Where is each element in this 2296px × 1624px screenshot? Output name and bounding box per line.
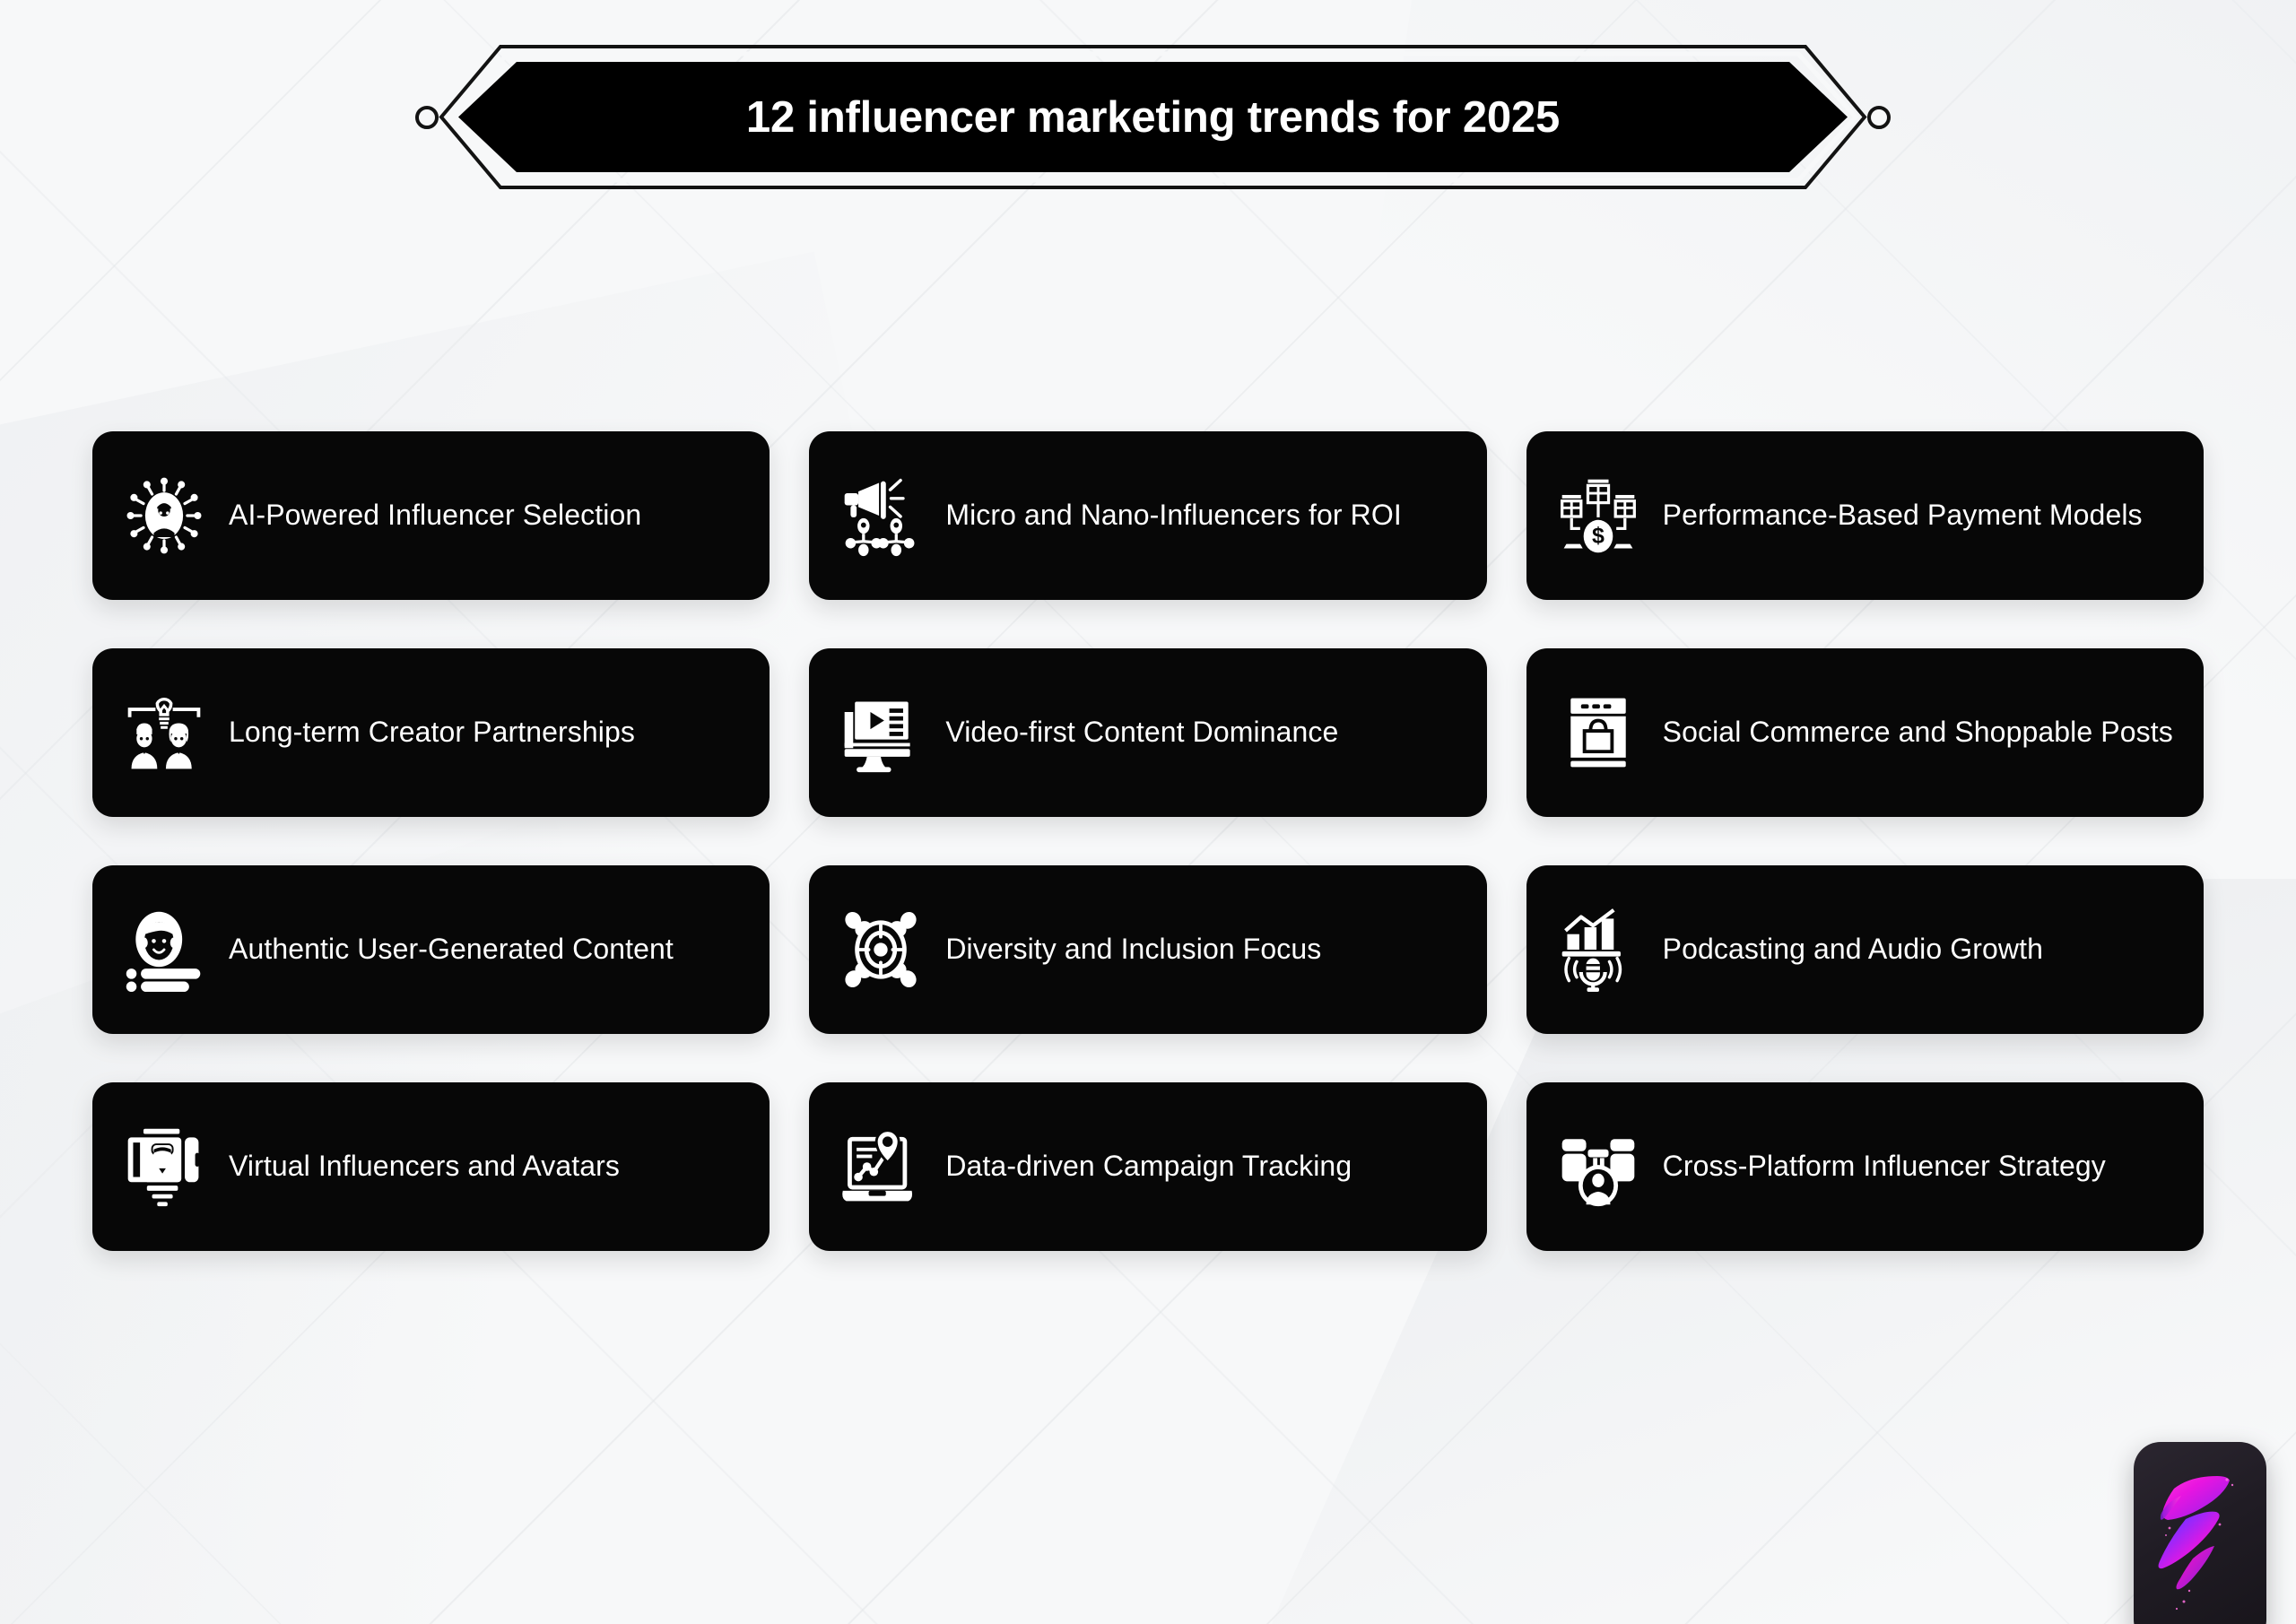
trend-card-label: Performance-Based Payment Models <box>1663 495 2143 535</box>
trend-card-label: Micro and Nano-Influencers for ROI <box>945 495 1402 535</box>
grid-row: Long-term Creator Partnerships <box>92 648 2204 817</box>
trend-card-label: Authentic User-Generated Content <box>229 929 674 969</box>
trend-card-virtual-influencers-and-avatars[interactable]: Virtual Influencers and Avatars <box>92 1082 770 1251</box>
people-lightbulb-icon <box>117 686 211 779</box>
trend-card-ai-powered-influencer-selection[interactable]: AI-Powered Influencer Selection <box>92 431 770 600</box>
trend-card-label: Cross-Platform Influencer Strategy <box>1663 1146 2106 1186</box>
payment-orgchart-dollar-icon: $ <box>1552 469 1645 562</box>
trend-card-micro-and-nano-influencers-for-roi[interactable]: Micro and Nano-Influencers for ROI <box>809 431 1486 600</box>
trend-card-performance-based-payment-models[interactable]: $ Performance-Based Payment Models <box>1526 431 2204 600</box>
target-people-icon <box>834 903 927 996</box>
trend-card-authentic-user-generated-content[interactable]: Authentic User-Generated Content <box>92 865 770 1034</box>
trend-card-label: Podcasting and Audio Growth <box>1663 929 2043 969</box>
banner-right-circle-icon <box>1866 105 1892 130</box>
laptop-location-chart-icon <box>834 1120 927 1213</box>
trend-card-podcasting-and-audio-growth[interactable]: Podcasting and Audio Growth <box>1526 865 2204 1034</box>
trend-card-label: Video-first Content Dominance <box>945 712 1338 752</box>
monitor-play-icon <box>834 686 927 779</box>
microphone-chart-icon <box>1552 903 1645 996</box>
trend-card-video-first-content-dominance[interactable]: Video-first Content Dominance <box>809 648 1486 817</box>
trend-card-label: Social Commerce and Shoppable Posts <box>1663 712 2173 752</box>
ai-face-network-icon <box>117 469 211 562</box>
svg-text:$: $ <box>1592 524 1605 549</box>
trend-card-data-driven-campaign-tracking[interactable]: Data-driven Campaign Tracking <box>809 1082 1486 1251</box>
trend-card-label: Virtual Influencers and Avatars <box>229 1146 620 1186</box>
megaphone-network-icon <box>834 469 927 562</box>
grid-row: Virtual Influencers and Avatars <box>92 1082 2204 1251</box>
banner-left-circle-icon <box>414 105 439 130</box>
grid-row: AI-Powered Influencer Selection <box>92 431 2204 600</box>
shopping-bag-browser-icon <box>1552 686 1645 779</box>
page-title: 12 influencer marketing trends for 2025 <box>438 43 1868 191</box>
trend-card-cross-platform-influencer-strategy[interactable]: Cross-Platform Influencer Strategy <box>1526 1082 2204 1251</box>
trend-card-label: Long-term Creator Partnerships <box>229 712 635 752</box>
vr-avatar-phone-icon <box>117 1120 211 1213</box>
grid-row: Authentic User-Generated Content <box>92 865 2204 1034</box>
trend-card-social-commerce-and-shoppable-posts[interactable]: Social Commerce and Shoppable Posts <box>1526 648 2204 817</box>
lightning-bolt-icon <box>2134 1442 2266 1624</box>
title-banner: 12 influencer marketing trends for 2025 <box>438 43 1868 191</box>
trends-grid: AI-Powered Influencer Selection <box>92 431 2204 1251</box>
binoculars-person-icon <box>1552 1120 1645 1213</box>
lightning-bolt-logo[interactable] <box>2134 1442 2266 1624</box>
trend-card-diversity-and-inclusion-focus[interactable]: Diversity and Inclusion Focus <box>809 865 1486 1034</box>
trend-card-long-term-creator-partnerships[interactable]: Long-term Creator Partnerships <box>92 648 770 817</box>
trend-card-label: Data-driven Campaign Tracking <box>945 1146 1352 1186</box>
trend-card-label: AI-Powered Influencer Selection <box>229 495 641 535</box>
infographic-canvas: 12 influencer marketing trends for 2025 <box>0 0 2296 1624</box>
user-profile-list-icon <box>117 903 211 996</box>
trend-card-label: Diversity and Inclusion Focus <box>945 929 1321 969</box>
